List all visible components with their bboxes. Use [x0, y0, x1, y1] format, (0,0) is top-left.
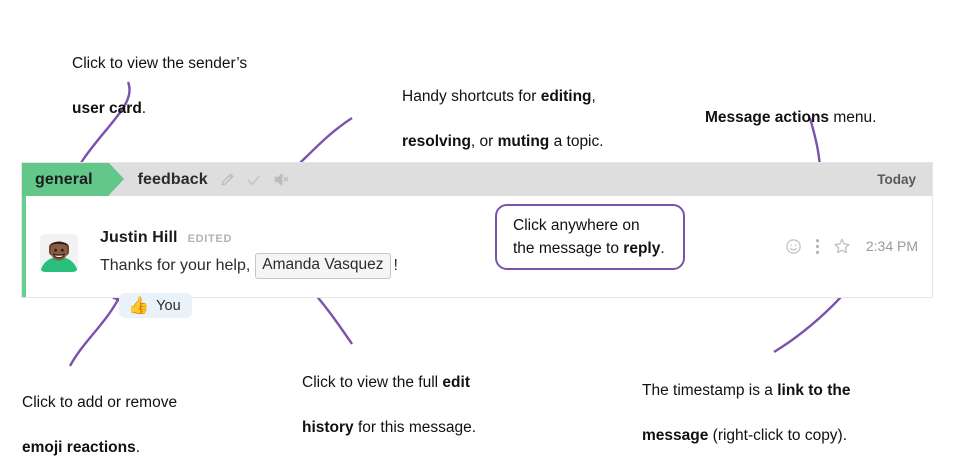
timestamp-note-bold2: message [642, 427, 708, 444]
message-controls: 2:34 PM [785, 237, 918, 255]
emoji-reactions-bold: emoji reactions [22, 439, 136, 456]
sender-name[interactable]: Justin Hill [100, 229, 178, 247]
avatar[interactable] [40, 234, 78, 272]
annotation-emoji-reactions: Click to add or remove emoji reactions. [22, 370, 302, 460]
annotation-shortcuts: Handy shortcuts for editing, resolving, … [402, 64, 652, 154]
mention-pill[interactable]: Amanda Vasquez [255, 253, 390, 279]
reply-callout-line2-pre: the message to [513, 240, 623, 257]
emoji-reactions-tail: . [136, 439, 140, 456]
stream-name: general [35, 171, 93, 189]
user-card-line1: Click to view the sender’s [72, 55, 247, 72]
timestamp-note-pre: The timestamp is a [642, 382, 777, 399]
star-icon[interactable] [833, 237, 851, 255]
message-actions-menu-icon[interactable] [815, 238, 820, 255]
topic-action-icons [220, 172, 290, 188]
unread-marker-bar [22, 196, 26, 297]
shortcuts-bold-resolving: resolving [402, 133, 471, 150]
date-label: Today [877, 172, 916, 187]
message-text-after: ! [394, 255, 398, 277]
shortcuts-bold-muting: muting [498, 133, 550, 150]
shortcuts-mid1: , [592, 88, 596, 105]
topic-name[interactable]: feedback [138, 171, 208, 189]
reaction-label: You [156, 298, 180, 314]
timestamp-note-bold1: link to the [777, 382, 850, 399]
annotation-message-actions: Message actions menu. [705, 85, 955, 130]
annotation-user-card: Click to view the sender’s user card. [72, 31, 332, 121]
message-timestamp[interactable]: 2:34 PM [866, 238, 918, 254]
annotation-edit-history: Click to view the full edit history for … [302, 350, 542, 440]
stream-badge-general[interactable]: general [22, 163, 109, 196]
edit-history-post: for this message. [354, 419, 476, 436]
edit-history-pre: Click to view the full [302, 374, 442, 391]
mute-speaker-icon[interactable] [273, 172, 290, 187]
shortcuts-pre: Handy shortcuts for [402, 88, 541, 105]
reply-callout-bold: reply [623, 240, 660, 257]
message-row[interactable]: Justin Hill EDITED Thanks for your help,… [22, 196, 932, 297]
check-resolve-icon[interactable] [246, 172, 262, 188]
shortcuts-bold-editing: editing [541, 88, 592, 105]
user-card-bold: user card [72, 100, 142, 117]
emoji-reaction-icon[interactable] [785, 238, 802, 255]
user-card-tail: . [142, 100, 146, 117]
annotation-timestamp: The timestamp is a link to the message (… [642, 358, 952, 448]
thumbs-up-icon: 👍 [128, 297, 149, 314]
message-text-before: Thanks for your help, [100, 255, 250, 277]
shortcuts-post: a topic. [549, 133, 603, 150]
emoji-reaction-chip[interactable]: 👍 You [119, 293, 192, 318]
topic-bar: general feedback Today [22, 163, 932, 196]
reply-callout-line1: Click anywhere on [513, 217, 640, 234]
reply-callout-line2-post: . [660, 240, 664, 257]
edit-pencil-icon[interactable] [220, 172, 235, 187]
message-widget: general feedback Today [22, 163, 932, 297]
message-actions-rest: menu. [829, 109, 876, 126]
emoji-reactions-line1: Click to add or remove [22, 394, 177, 411]
reply-callout-box: Click anywhere on the message to reply. [495, 204, 685, 270]
edit-history-bold-edit: edit [442, 374, 470, 391]
edit-history-bold-history: history [302, 419, 354, 436]
shortcuts-mid2: , or [471, 133, 498, 150]
edited-tag[interactable]: EDITED [188, 233, 233, 245]
message-actions-bold: Message actions [705, 109, 829, 126]
timestamp-note-post: (right-click to copy). [708, 427, 847, 444]
